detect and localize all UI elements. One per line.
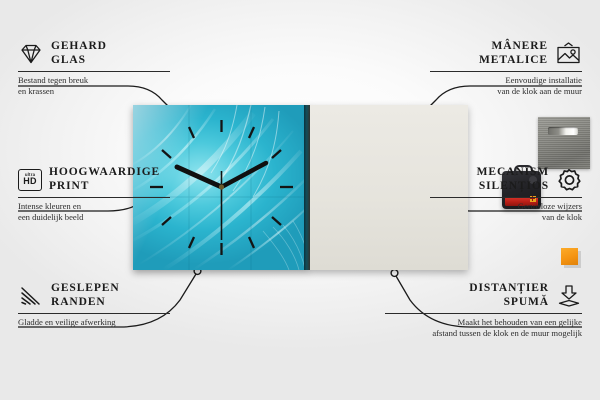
metal-hanger-plate	[538, 117, 590, 169]
feature-title: GESLEPEN RANDEN	[51, 282, 120, 309]
diamond-icon	[18, 43, 44, 65]
feature-description: Geruisloze wijzers van de klok	[430, 201, 582, 222]
gear-icon	[556, 168, 582, 192]
feature-title-line1: MÂNERE	[479, 40, 548, 54]
feature-title-line2: METALICE	[479, 54, 548, 68]
connector-dot-distantier-spuma	[391, 270, 398, 277]
feature-title-line1: DISTANȚIER	[469, 282, 549, 296]
feature-divider	[18, 313, 170, 314]
tick-1	[249, 127, 254, 138]
feature-title: MECANISM SILENȚIOS	[477, 166, 549, 193]
foam-spacer	[561, 248, 578, 265]
feature-title-line1: GEHARD	[51, 40, 107, 54]
feature-title: MÂNERE METALICE	[479, 40, 548, 67]
hour-hand	[177, 167, 222, 187]
feature-mecanism-silentios: MECANISM SILENȚIOS Geruisloze wijzers va…	[430, 166, 582, 222]
tick-7	[189, 237, 194, 248]
feature-title: GEHARD GLAS	[51, 40, 107, 67]
feature-description: Gladde en veilige afwerking	[18, 317, 170, 328]
feature-description: Intense kleuren en een duidelijk beeld	[18, 201, 170, 222]
feature-title: HOOGWAARDIGE PRINT	[49, 166, 160, 193]
infographic-canvas: GEHARD GLAS Bestand tegen breuk en krass…	[0, 0, 600, 400]
feature-title: DISTANȚIER SPUMĂ	[469, 282, 549, 309]
feature-divider	[430, 71, 582, 72]
feature-title-line2: SILENȚIOS	[477, 180, 549, 194]
feature-description: Maakt het behouden van een gelijke afsta…	[385, 317, 582, 338]
feature-gehard-glas: GEHARD GLAS Bestand tegen breuk en krass…	[18, 40, 170, 96]
feature-desc-line1: Eenvoudige installatie	[430, 75, 582, 86]
hanger-slot	[548, 127, 578, 135]
feature-desc-line2: afstand tussen de klok en de muur mogeli…	[385, 328, 582, 339]
feature-manere-metalice: MÂNERE METALICE Eenvoudige installatie v…	[430, 40, 582, 96]
feature-title-line2: PRINT	[49, 180, 160, 194]
tick-11	[189, 127, 194, 138]
feature-desc-line1: Intense kleuren en	[18, 201, 170, 212]
feature-divider	[18, 197, 170, 198]
tick-10	[162, 150, 171, 158]
feature-title-line1: MECANISM	[477, 166, 549, 180]
feature-geslepen-randen: GESLEPEN RANDEN Gladde en veilige afwerk…	[18, 282, 170, 328]
feature-title-line2: SPUMĂ	[469, 296, 549, 310]
hands-center-cap	[219, 184, 224, 189]
product-image	[133, 105, 468, 270]
feature-title-line2: RANDEN	[51, 296, 120, 310]
feature-description: Eenvoudige installatie van de klok aan d…	[430, 75, 582, 96]
feature-divider	[18, 71, 170, 72]
tick-2	[272, 150, 281, 158]
feature-desc-line1: Bestand tegen breuk	[18, 75, 170, 86]
feature-divider	[430, 197, 582, 198]
feature-desc-line2: van de klok	[430, 212, 582, 223]
feature-title-line2: GLAS	[51, 54, 107, 68]
spacer-arrow-icon	[556, 284, 582, 308]
picture-hanger-icon	[555, 42, 582, 65]
tick-5	[249, 237, 254, 248]
feature-distantier-spuma: DISTANȚIER SPUMĂ Maakt het behouden van …	[385, 282, 582, 338]
feature-desc-line1: Gladde en veilige afwerking	[18, 317, 170, 328]
feature-description: Bestand tegen breuk en krassen	[18, 75, 170, 96]
feature-divider	[385, 313, 582, 314]
feature-title-line1: HOOGWAARDIGE	[49, 166, 160, 180]
feature-desc-line2: een duidelijk beeld	[18, 212, 170, 223]
beveled-edge-icon	[18, 285, 44, 307]
feature-title-line1: GESLEPEN	[51, 282, 120, 296]
feature-desc-line1: Geruisloze wijzers	[430, 201, 582, 212]
feature-hoogwaardige-print: ultra HD HOOGWAARDIGE PRINT Intense kleu…	[18, 166, 170, 222]
ultra-hd-icon-bottom-text: HD	[23, 177, 37, 186]
tick-4	[272, 217, 281, 225]
minute-hand	[222, 163, 267, 187]
ultra-hd-icon: ultra HD	[18, 169, 42, 191]
feature-desc-line2: en krassen	[18, 86, 170, 97]
feature-desc-line2: van de klok aan de muur	[430, 86, 582, 97]
feature-desc-line1: Maakt het behouden van een gelijke	[385, 317, 582, 328]
